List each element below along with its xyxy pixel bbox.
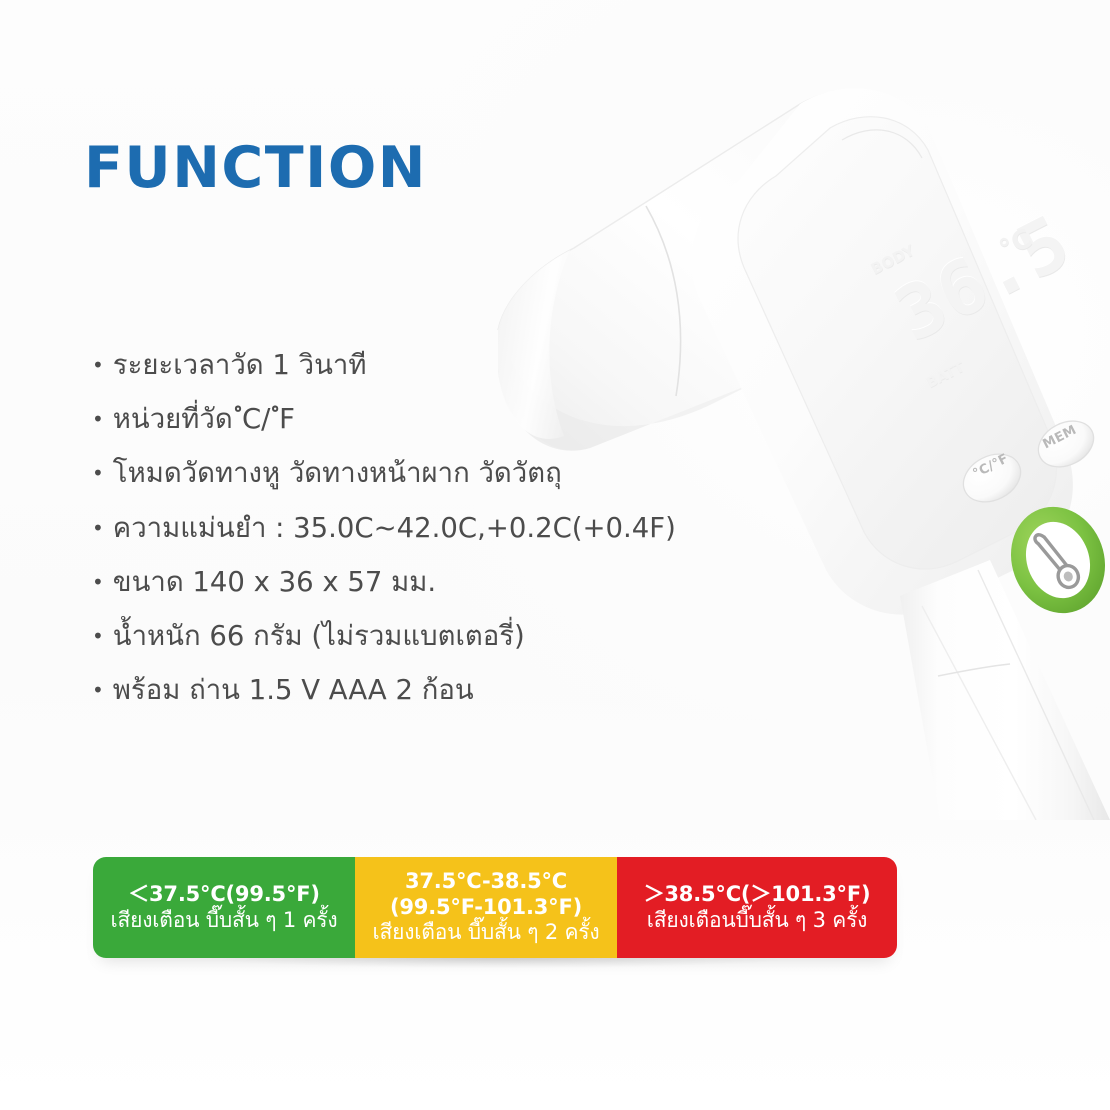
- list-item: • ระยะเวลาวัด 1 วินาที: [92, 348, 752, 383]
- lcd-value: 36.5: [885, 204, 1081, 353]
- unit-toggle-button-label: °C/°F: [971, 451, 1011, 481]
- feature-list: • ระยะเวลาวัด 1 วินาที • หน่วยที่วัด ํC/…: [92, 348, 752, 727]
- temp-segment-elevated: 37.5°C-38.5°C (99.5°F-101.3°F) เสียงเตือ…: [355, 857, 617, 958]
- list-item: • น้ำหนัก 66 กรัม (ไม่รวมแบตเตอรี่): [92, 619, 752, 654]
- temp-range-label: ＞38.5°C(＞101.3°F): [644, 882, 871, 908]
- device-buttons: [955, 412, 1101, 511]
- temp-beep-label: เสียงเตือน บี๊บสั้น ๆ 2 ครั้ง: [373, 920, 600, 946]
- bullet-icon: •: [92, 565, 104, 599]
- thermometer-icon: [1034, 527, 1082, 594]
- bullet-icon: •: [92, 348, 104, 382]
- device-lcd-display: BODY 36.5 °C BATT: [861, 184, 1105, 431]
- bullet-icon: •: [92, 456, 104, 490]
- temp-range-label-fahrenheit: (99.5°F-101.3°F): [390, 895, 582, 921]
- memory-button-label: MEM: [1041, 423, 1080, 453]
- list-item-label: ความแม่นยำ : 35.0C~42.0C,+0.2C(+0.4F): [113, 511, 752, 546]
- temperature-status-bar: ＜37.5°C(99.5°F) เสียงเตือน บี๊บสั้น ๆ 1 …: [93, 857, 897, 958]
- temperature-bar-shadow: [120, 958, 880, 984]
- memory-button: [1031, 412, 1102, 476]
- bullet-icon: •: [92, 511, 104, 545]
- list-item: • หน่วยที่วัด ํC/ ํF: [92, 402, 752, 437]
- list-item-label: ระยะเวลาวัด 1 วินาที: [113, 348, 752, 383]
- list-item-label: หน่วยที่วัด ํC/ ํF: [113, 402, 752, 437]
- bullet-icon: •: [92, 673, 104, 707]
- lcd-mode-label: BODY: [868, 241, 918, 278]
- temp-segment-normal: ＜37.5°C(99.5°F) เสียงเตือน บี๊บสั้น ๆ 1 …: [93, 857, 355, 958]
- unit-toggle-button: [955, 445, 1028, 511]
- list-item: • ขนาด 140 x 36 x 57 มม.: [92, 565, 752, 600]
- list-item-label: โหมดวัดทางหู วัดทางหน้าผาก วัดวัตถุ: [113, 456, 752, 491]
- device-handle: [900, 560, 1110, 820]
- temp-beep-label: เสียงเตือน บี๊บสั้น ๆ 1 ครั้ง: [111, 908, 338, 934]
- page-title: FUNCTION: [84, 140, 427, 197]
- lcd-battery-label: BATT: [924, 359, 967, 391]
- lcd-unit: °C: [995, 224, 1037, 265]
- list-item-label: พร้อม ถ่าน 1.5 V AAA 2 ก้อน: [113, 673, 752, 708]
- temp-range-label: ＜37.5°C(99.5°F): [128, 882, 320, 908]
- temp-range-label: 37.5°C-38.5°C: [405, 869, 567, 895]
- measure-button: [996, 494, 1110, 627]
- bullet-icon: •: [92, 619, 104, 653]
- temp-segment-fever: ＞38.5°C(＞101.3°F) เสียงเตือนบี๊บสั้น ๆ 3…: [617, 857, 897, 958]
- infographic-page: BODY 36.5 °C BATT °C/°F MEM FUNCTION • ร…: [0, 0, 1110, 1110]
- list-item: • โหมดวัดทางหู วัดทางหน้าผาก วัดวัตถุ: [92, 456, 752, 491]
- list-item-label: ขนาด 140 x 36 x 57 มม.: [113, 565, 752, 600]
- temp-beep-label: เสียงเตือนบี๊บสั้น ๆ 3 ครั้ง: [647, 908, 867, 934]
- list-item-label: น้ำหนัก 66 กรัม (ไม่รวมแบตเตอรี่): [113, 619, 752, 654]
- list-item: • พร้อม ถ่าน 1.5 V AAA 2 ก้อน: [92, 673, 752, 708]
- bullet-icon: •: [92, 402, 104, 436]
- list-item: • ความแม่นยำ : 35.0C~42.0C,+0.2C(+0.4F): [92, 511, 752, 546]
